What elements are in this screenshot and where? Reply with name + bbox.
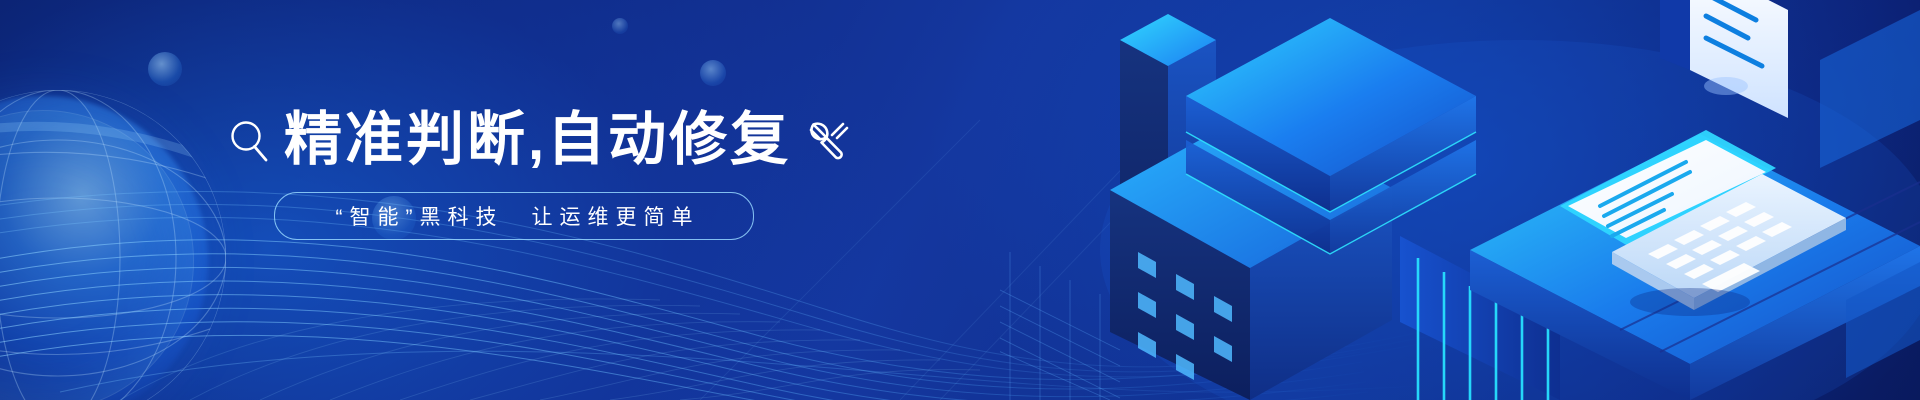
subtitle-text: “智能”黑科技 让运维更简单 — [329, 201, 700, 231]
bokeh-dot — [148, 52, 182, 86]
wrench-icon — [805, 117, 851, 163]
bokeh-dot — [700, 60, 726, 86]
subtitle-pill: “智能”黑科技 让运维更简单 — [274, 192, 754, 240]
magnifier-icon — [228, 117, 270, 163]
promo-banner: 精准判断,自动修复 “智能”黑科技 让运维更简单 — [0, 0, 1920, 400]
grid-floor — [1000, 252, 1120, 400]
bokeh-dot — [612, 18, 628, 34]
page-title: 精准判断,自动修复 — [284, 109, 791, 171]
banner-content: 精准判断,自动修复 “智能”黑科技 让运维更简单 — [228, 104, 848, 240]
isometric-scene — [1000, 0, 1920, 400]
headline-row: 精准判断,自动修复 — [228, 104, 848, 176]
isometric-illustration — [1000, 0, 1920, 400]
